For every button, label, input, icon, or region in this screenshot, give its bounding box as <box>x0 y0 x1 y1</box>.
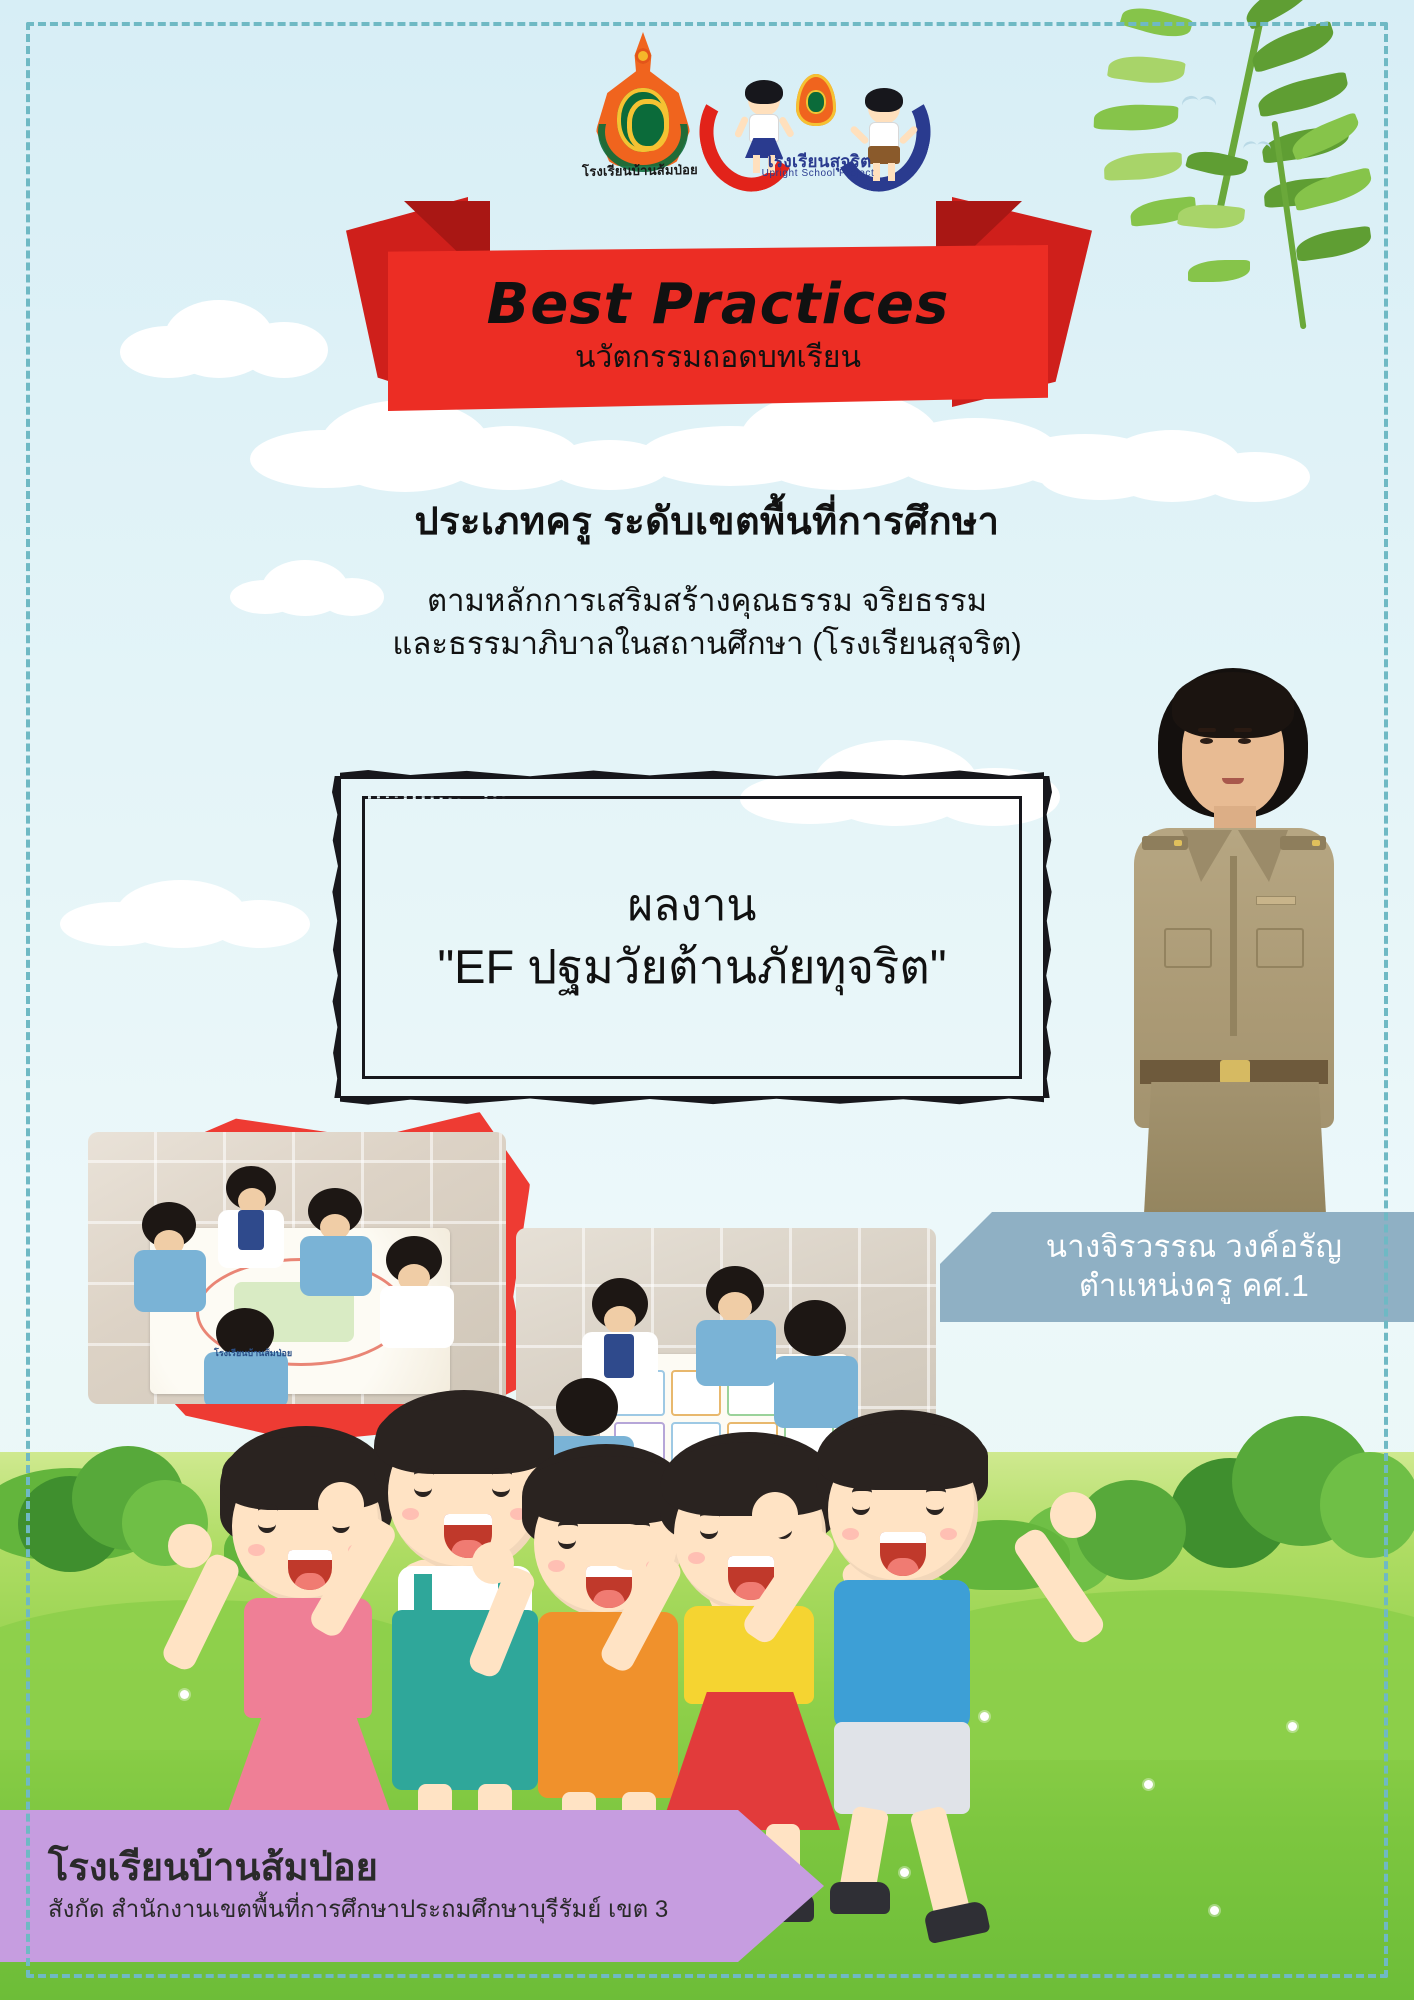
subtitle-line-1: ตามหลักการเสริมสร้างคุณธรรม จริยธรรม <box>0 580 1414 623</box>
work-label: ผลงาน <box>627 882 756 930</box>
upright-school-project-logo: โรงเรียนสุจริต Upright School Project <box>700 70 930 205</box>
work-title-frame: ผลงาน "EF ปฐมวัยต้านภัยทุจริต" <box>332 770 1052 1105</box>
tree <box>1170 1408 1414 1588</box>
school-affiliation: สังกัด สำนักงานเขตพื้นที่การศึกษาประถมศึ… <box>48 1894 824 1925</box>
school-banner: โรงเรียนบ้านส้มป่อย สังกัด สำนักงานเขตพื… <box>0 1810 824 1962</box>
teacher-portrait <box>1110 660 1360 1280</box>
subtitle-block: ตามหลักการเสริมสร้างคุณธรรม จริยธรรม และ… <box>0 580 1414 666</box>
emblem-mini-icon <box>796 74 836 126</box>
ribbon-title-th: นวัตกรรมถอดบทเรียน <box>575 343 861 373</box>
best-practices-ribbon: Best Practices นวัตกรรมถอดบทเรียน <box>0 185 1414 445</box>
teacher-name-plate: นางจิรวรรณ วงค์อรัญ ตำแหน่งครู คศ.1 <box>940 1212 1414 1322</box>
logo-row: โรงเรียนบ้านส้มป่อย โรงเรียนสุจริต <box>0 18 1414 213</box>
ministry-of-education-emblem: โรงเรียนบ้านส้มป่อย <box>560 32 720 202</box>
flower <box>1288 1722 1297 1731</box>
ribbon-body: Best Practices นวัตกรรมถอดบทเรียน <box>388 245 1048 411</box>
school-name: โรงเรียนบ้านส้มป่อย <box>48 1847 824 1891</box>
teacher-position: ตำแหน่งครู คศ.1 <box>1079 1267 1309 1306</box>
frame-content: ผลงาน "EF ปฐมวัยต้านภัยทุจริต" <box>332 770 1052 1105</box>
ribbon-title-en: Best Practices <box>487 277 950 333</box>
flower <box>1210 1906 1219 1915</box>
flower <box>180 1690 189 1699</box>
poster-root: โรงเรียนบ้านส้มป่อย โรงเรียนสุจริต <box>0 0 1414 2000</box>
work-title: "EF ปฐมวัยต้านภัยทุจริต" <box>437 941 946 993</box>
category-heading: ประเภทครู ระดับเขตพื้นที่การศึกษา <box>0 490 1414 551</box>
classroom-activity-photo-1: โรงเรียนบ้านส้มป่อย <box>88 1132 506 1404</box>
teacher-name: นางจิรวรรณ วงค์อรัญ <box>1046 1228 1342 1267</box>
upright-logo-text-en: Upright School Project <box>738 168 898 179</box>
flower <box>1144 1780 1153 1789</box>
cartoon-child-5 <box>790 1416 1060 1946</box>
